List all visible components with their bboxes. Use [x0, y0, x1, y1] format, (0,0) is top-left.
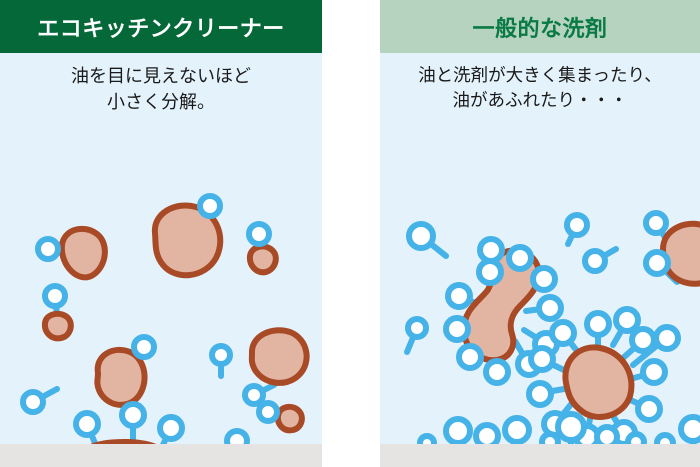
- comparison-figure: エコキッチンクリーナー 油を目に見えないほど 小さく分解。: [0, 0, 700, 467]
- surfactant-2: [45, 286, 65, 306]
- surfactant-4: [249, 224, 269, 244]
- surfactant-11: [122, 404, 144, 426]
- surface-surfactant-2: [446, 419, 470, 443]
- panel-ordinary-detergent: 一般的な洗剤 油と洗剤が大きく集まったり、 油があふれたり・・・: [380, 0, 700, 467]
- surfactant-9: [259, 403, 277, 421]
- surface-surfactant-10: [681, 417, 700, 441]
- surfactant-1: [38, 239, 58, 259]
- micelle-head-b2: [552, 322, 574, 344]
- micelle-head-a4: [459, 346, 481, 368]
- panel-body-ordinary-detergent: 油と洗剤が大きく集まったり、 油があふれたり・・・: [380, 53, 700, 467]
- free-surfactant-2: [408, 319, 426, 337]
- micelle-head-b10: [632, 329, 654, 351]
- panel-title-eco-cleaner: エコキッチンクリーナー: [37, 11, 285, 43]
- free-surfactant-3: [567, 215, 587, 235]
- micelle-head-b1: [587, 313, 609, 335]
- oil-blob-edge-right: [663, 224, 700, 284]
- panel-title-ordinary-detergent: 一般的な洗剤: [472, 11, 607, 43]
- surfactant-3: [200, 196, 220, 216]
- scene-eco-cleaner: [0, 53, 322, 467]
- micelle-head-b4: [529, 383, 551, 405]
- micelle-head-a10: [509, 247, 531, 269]
- micelle-head-a9: [533, 268, 555, 290]
- micelle-head-a3: [446, 318, 468, 340]
- oil-blob-upper-right: [252, 330, 307, 383]
- panel-header-ordinary-detergent: 一般的な洗剤: [380, 0, 700, 53]
- panel-body-eco-cleaner: 油を目に見えないほど 小さく分解。: [0, 53, 322, 467]
- illustration-ordinary-detergent: [380, 53, 700, 467]
- micelle-head-b11: [616, 309, 638, 331]
- micelle-head-a8: [539, 297, 561, 319]
- surfactant-5: [23, 392, 43, 412]
- illustration-eco-cleaner: [0, 53, 322, 467]
- micelle-head-a1: [479, 261, 501, 283]
- micelle-head-a2: [448, 285, 470, 307]
- micelle-head-a5: [486, 361, 508, 383]
- free-surfactant-1: [409, 224, 433, 248]
- micelle-head-a11: [480, 239, 502, 261]
- scene-ordinary-detergent: [380, 53, 700, 467]
- panel-header-eco-cleaner: エコキッチンクリーナー: [0, 0, 322, 53]
- surfactant-10: [76, 413, 98, 435]
- surfactant-7: [212, 346, 230, 364]
- surfactant-6: [134, 337, 154, 357]
- oil-blob-small-left: [62, 229, 105, 278]
- surface-strip-left: [0, 444, 322, 467]
- surface-strip-right: [380, 444, 700, 467]
- micelle-head-b9: [643, 361, 665, 383]
- micelle-head-b12: [656, 327, 678, 349]
- surfactant-12: [160, 417, 182, 439]
- surfactant-8: [245, 386, 263, 404]
- oil-blob-tiny-mid-right: [278, 407, 302, 430]
- micelle-head-b3: [531, 348, 553, 370]
- free-surfactant-6: [646, 252, 668, 274]
- panel-eco-cleaner: エコキッチンクリーナー 油を目に見えないほど 小さく分解。: [0, 0, 322, 467]
- surface-surfactant-4: [505, 418, 529, 442]
- free-surfactant-5: [646, 213, 666, 233]
- surface-surfactant-6: [558, 414, 584, 440]
- oil-blob-micelle-round: [565, 347, 631, 417]
- oil-blob-tiny-right: [250, 246, 276, 272]
- oil-blob-tiny-left: [45, 314, 71, 338]
- micelle-head-b8: [638, 398, 660, 420]
- free-surfactant-4: [585, 251, 605, 271]
